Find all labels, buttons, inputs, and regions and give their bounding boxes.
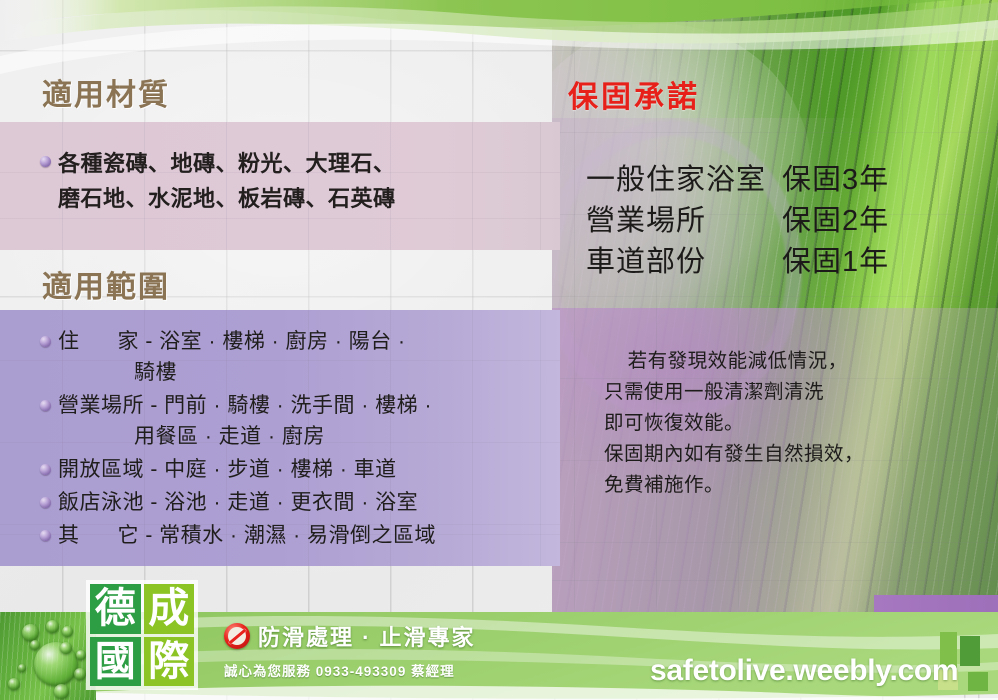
list-item: 其 它 - 常積水 · 潮濕 · 易滑倒之區域 [40,520,436,551]
droplet [76,650,86,660]
water-droplet-image [0,612,96,700]
sphere-bullet-icon [40,497,51,508]
company-logo: 德 成 國 際 [86,580,198,690]
warranty-row: 一般住家浴室 保固3年 [586,160,986,201]
warranty-row: 營業場所 保固2年 [586,201,986,242]
list-item-label: 營業場所 - 門前 · 騎樓 · 洗手間 · 樓梯 · 用餐區 · 走道 · 廚… [58,390,432,452]
logo-char: 成 [144,584,195,634]
material-list: 各種瓷磚、地磚、粉光、大理石、 磨石地、水泥地、板岩磚、石英磚 [40,146,396,216]
sphere-bullet-icon [40,530,51,541]
section-heading-scope: 適用範圍 [42,262,170,306]
scope-list: 住 家 - 浴室 · 樓梯 · 廚房 · 陽台 · 騎樓 營業場所 - 門前 ·… [40,326,436,553]
warranty-label: 車道部份 [586,242,782,283]
droplet [60,642,72,654]
warranty-value: 保固1年 [782,242,889,283]
droplet [46,620,59,633]
list-item: 開放區域 - 中庭 · 步道 · 樓梯 · 車道 [40,454,436,485]
list-item-label: 其 它 - 常積水 · 潮濕 · 易滑倒之區域 [58,520,436,551]
droplet [74,668,86,680]
footer-slogan: 防滑處理 · 止滑專家 [258,620,476,652]
warranty-value: 保固2年 [782,201,889,242]
sphere-bullet-icon [40,156,51,167]
list-item-label: 住 家 - 浴室 · 樓梯 · 廚房 · 陽台 · 騎樓 [58,326,405,388]
footer-contact: 誠心為您服務 0933-493309 蔡經理 [224,660,455,680]
section-heading-material: 適用材質 [42,70,170,114]
list-item: 各種瓷磚、地磚、粉光、大理石、 磨石地、水泥地、板岩磚、石英磚 [40,146,396,216]
droplet [18,664,26,672]
list-item-label: 各種瓷磚、地磚、粉光、大理石、 磨石地、水泥地、板岩磚、石英磚 [58,146,396,216]
logo-char: 際 [144,637,195,687]
warranty-title: 保固承諾 [568,72,700,116]
droplet [30,640,40,650]
slide-canvas: 適用材質 適用範圍 各種瓷磚、地磚、粉光、大理石、 磨石地、水泥地、板岩磚、石英… [0,0,998,700]
no-slip-icon [224,623,250,649]
list-item-label: 開放區域 - 中庭 · 步道 · 樓梯 · 車道 [58,454,397,485]
warranty-note: 若有發現效能減低情況， 只需使用一般清潔劑清洗 即可恢復效能。 保固期內如有發生… [604,346,984,501]
droplet [62,626,73,637]
logo-char: 德 [90,584,141,634]
list-item: 飯店泳池 - 浴池 · 走道 · 更衣間 · 浴室 [40,487,436,518]
warranty-label: 營業場所 [586,201,782,242]
droplet [54,684,69,699]
sphere-bullet-icon [40,336,51,347]
warranty-table: 一般住家浴室 保固3年 營業場所 保固2年 車道部份 保固1年 [586,160,986,283]
list-item: 住 家 - 浴室 · 樓梯 · 廚房 · 陽台 · 騎樓 [40,326,436,388]
sphere-bullet-icon [40,400,51,411]
droplet [8,678,20,690]
sphere-bullet-icon [40,464,51,475]
warranty-value: 保固3年 [782,160,889,201]
warranty-row: 車道部份 保固1年 [586,242,986,283]
warranty-label: 一般住家浴室 [586,160,782,201]
logo-char: 國 [90,637,141,687]
list-item: 營業場所 - 門前 · 騎樓 · 洗手間 · 樓梯 · 用餐區 · 走道 · 廚… [40,390,436,452]
droplet [22,624,39,641]
list-item-label: 飯店泳池 - 浴池 · 走道 · 更衣間 · 浴室 [58,487,418,518]
footer-website-url[interactable]: safetolive.weebly.com [650,654,958,688]
